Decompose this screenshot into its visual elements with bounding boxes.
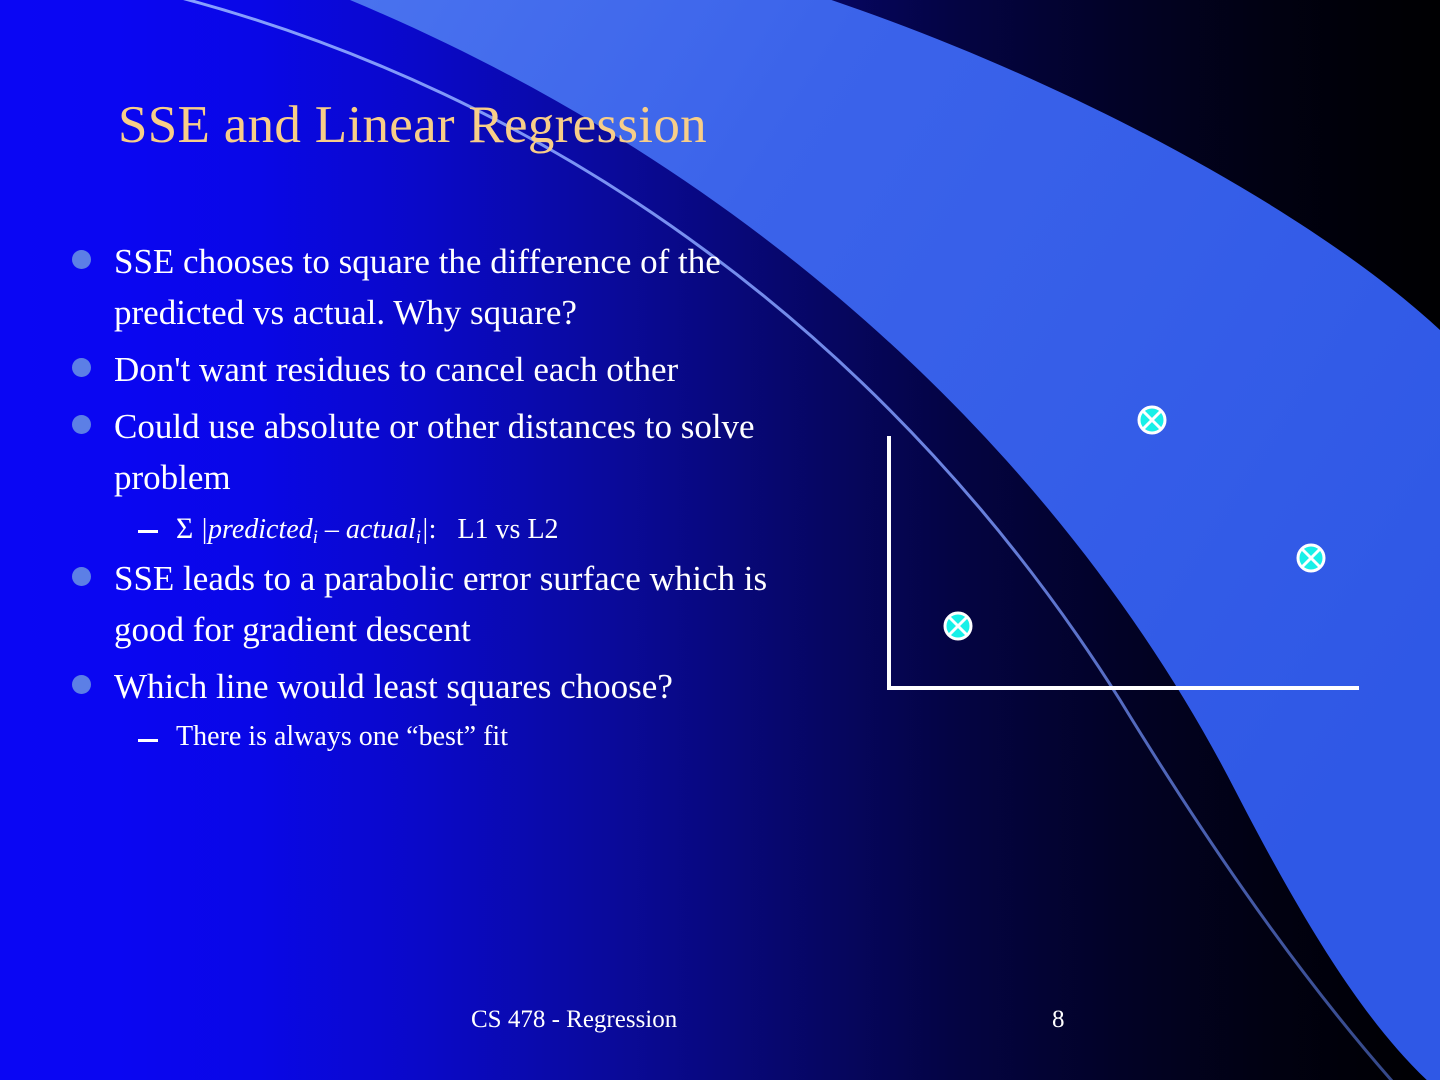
bullet-text: Which line would least squares choose?: [114, 661, 673, 712]
formula-term-actual: actual: [346, 514, 416, 545]
bullet-dot-icon: [72, 675, 91, 694]
sub-bullet-item-formula: Σ |predictedi – actuali|: L1 vs L2: [72, 509, 872, 550]
sigma-symbol: Σ: [176, 513, 193, 545]
formula-text: Σ |predictedi – actuali|: L1 vs L2: [176, 509, 559, 550]
presentation-slide: SSE and Linear Regression SSE chooses to…: [0, 0, 1440, 1080]
data-point: [1139, 407, 1165, 433]
formula-operator-minus: –: [325, 514, 339, 545]
bullet-dot-icon: [72, 250, 91, 269]
sub-bullet-dash-icon: [138, 530, 158, 533]
scatter-plot-figure: [880, 400, 1380, 710]
plot-axes: [889, 438, 1357, 688]
bullet-item: SSE leads to a parabolic error surface w…: [72, 553, 872, 655]
formula-space-2: [318, 514, 325, 545]
formula-gap: [436, 514, 457, 545]
footer-label: CS 478 - Regression: [471, 1006, 677, 1034]
formula-tail-label: L1 vs L2: [457, 514, 558, 545]
bullet-dot-icon: [72, 358, 91, 377]
data-point: [945, 613, 971, 639]
bullet-item: Could use absolute or other distances to…: [72, 401, 872, 503]
formula-close-bar: |: [421, 514, 429, 545]
formula-space-3: [339, 514, 346, 545]
bullet-text: Could use absolute or other distances to…: [114, 401, 824, 503]
bullet-item: SSE chooses to square the difference of …: [72, 236, 872, 338]
bullet-text: Don't want residues to cancel each other: [114, 344, 678, 395]
slide-body-content: SSE chooses to square the difference of …: [72, 236, 872, 758]
formula-term-predicted: predicted: [208, 514, 313, 545]
scatter-plot-svg: [880, 400, 1380, 710]
slide-title: SSE and Linear Regression: [118, 96, 1118, 154]
bullet-text: SSE chooses to square the difference of …: [114, 236, 824, 338]
slide-number: 8: [1052, 1006, 1065, 1034]
sub-bullet-item: There is always one “best” fit: [72, 718, 872, 756]
data-point: [1298, 545, 1324, 571]
sub-bullet-dash-icon: [138, 739, 158, 742]
bullet-item: Which line would least squares choose?: [72, 661, 872, 712]
bullet-item: Don't want residues to cancel each other: [72, 344, 872, 395]
formula-open-bar: |: [200, 514, 208, 545]
sub-bullet-text: There is always one “best” fit: [176, 718, 508, 756]
bullet-dot-icon: [72, 415, 91, 434]
bullet-dot-icon: [72, 567, 91, 586]
bullet-text: SSE leads to a parabolic error surface w…: [114, 553, 824, 655]
